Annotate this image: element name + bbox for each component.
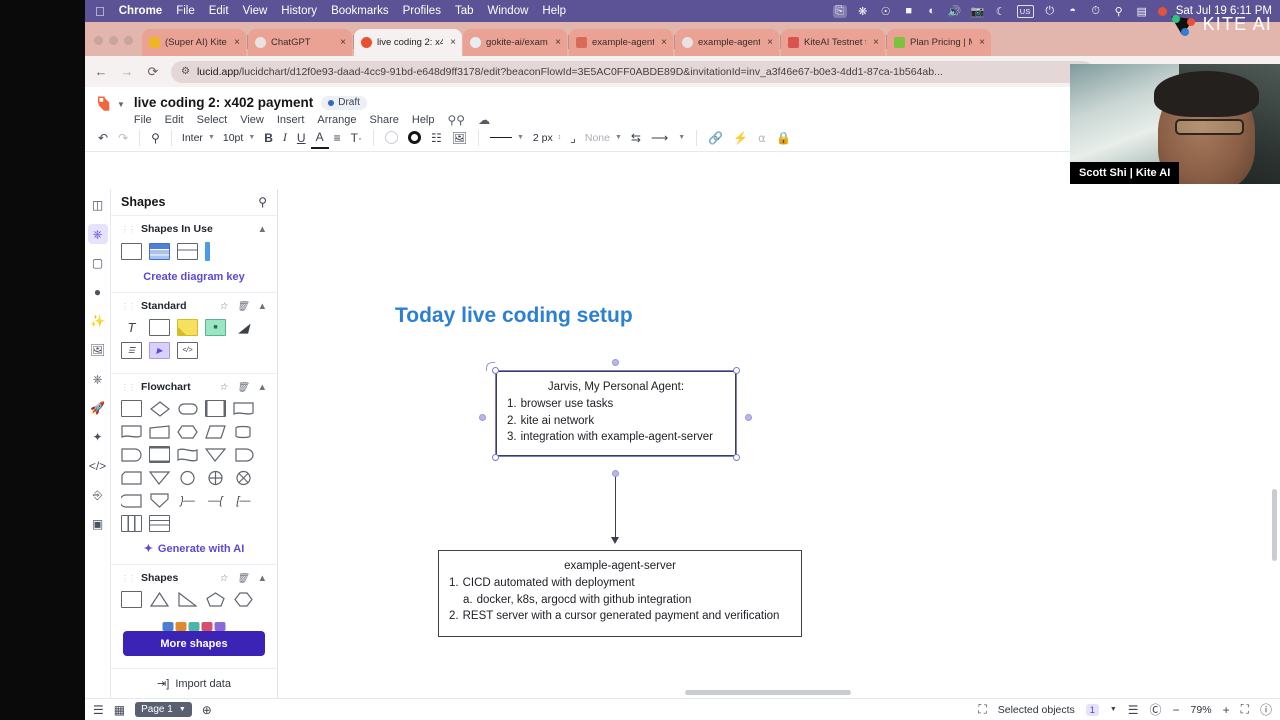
shape-decision[interactable]	[149, 400, 170, 417]
stepper-icon: ↕	[558, 134, 562, 141]
undo-icon[interactable]: ↶	[93, 127, 113, 149]
shape-grid	[121, 400, 267, 417]
page-selector[interactable]: Page 1 ▼	[135, 702, 192, 717]
menu-profiles[interactable]: Profiles	[403, 5, 441, 17]
shape-extract[interactable]	[205, 446, 226, 463]
magic-wand-icon[interactable]: ✨	[88, 311, 108, 331]
star-icon[interactable]: ☆	[219, 301, 228, 312]
section-actions: ☆ 🗑 ▲	[219, 573, 267, 584]
section-title: Flowchart	[141, 381, 191, 393]
draft-dot-icon	[328, 100, 334, 106]
shape-pen-icon[interactable]: ◢	[233, 319, 254, 336]
accessibility-icon[interactable]: Ⓒ	[1150, 701, 1162, 718]
ai-sparkle-icon[interactable]: ✦	[88, 427, 108, 447]
font-size-value: 10pt	[223, 132, 243, 144]
shape-options-icon[interactable]: ☷	[426, 127, 447, 149]
trash-icon[interactable]: 🗑	[237, 382, 249, 393]
lucid-menu-select[interactable]: Select	[197, 114, 228, 126]
tab-favicon	[470, 37, 481, 48]
tab-close-icon[interactable]: ×	[232, 38, 242, 48]
address-bar-url: lucid.app/lucidchart/d12f0e93-daad-4cc9-…	[197, 66, 943, 78]
list-item: 1.CICD automated with deployment	[449, 575, 791, 592]
shape-hexagon[interactable]	[233, 591, 254, 608]
speaker-name-label: Scott Shi | Kite AI	[1070, 162, 1179, 184]
shape-grid: }— —{ [—	[121, 492, 267, 509]
shape-table[interactable]	[177, 243, 198, 260]
shape-bracket[interactable]: [—	[233, 492, 254, 509]
webcam-overlay[interactable]: Scott Shi | Kite AI	[1070, 64, 1280, 184]
lucid-title-row: live coding 2: x402 payment Draft	[134, 95, 490, 110]
shape-parallelogram[interactable]	[205, 423, 226, 440]
lucid-title-block: live coding 2: x402 payment Draft File E…	[134, 95, 490, 127]
reload-button[interactable]: ⟳	[145, 64, 161, 80]
selection-icon[interactable]: ⛶	[978, 702, 986, 717]
comment-panel-icon[interactable]: ▣	[88, 514, 108, 534]
url-path: /lucidchart/d12f0e93-daad-4cc9-91bd-e648…	[239, 66, 943, 78]
more-shapes-preview	[163, 622, 226, 631]
import-data-row[interactable]: ⇥] Import data	[111, 668, 277, 690]
address-bar[interactable]: ⚙ lucid.app/lucidchart/d12f0e93-daad-4cc…	[171, 61, 1094, 83]
screen-root:  Chrome File Edit View History Bookmark…	[0, 0, 1280, 720]
drag-grip-icon: ⋮⋮	[121, 302, 135, 311]
tab-favicon	[255, 37, 266, 48]
list-text: CICD automated with deployment	[463, 575, 635, 592]
fill-none-icon[interactable]	[380, 127, 403, 149]
preview-shape	[215, 622, 226, 631]
list-item-sub: a.docker, k8s, argocd with github integr…	[449, 592, 791, 609]
search-icon[interactable]: ⚲	[258, 195, 267, 209]
volume-icon[interactable]: 🔊	[948, 5, 962, 18]
list-text: docker, k8s, argocd with github integrat…	[477, 592, 692, 609]
import-data-label: Import data	[175, 678, 231, 690]
format-painter-icon[interactable]: ⚲	[146, 127, 165, 149]
shape-right-triangle[interactable]	[177, 591, 198, 608]
section-header[interactable]: ⋮⋮ Standard ☆ 🗑 ▲	[121, 300, 267, 312]
tab-title: Plan Pricing | Modal	[910, 37, 972, 48]
tab-close-icon[interactable]: ×	[338, 38, 348, 48]
shape-predefined-process[interactable]	[205, 400, 226, 417]
shape-circle[interactable]	[177, 469, 198, 486]
lucid-menu-view[interactable]: View	[240, 114, 264, 126]
chevron-down-icon[interactable]: ▼	[1110, 706, 1117, 713]
document-title[interactable]: live coding 2: x402 payment	[134, 95, 313, 110]
preview-shape	[176, 622, 187, 631]
url-host: lucid.app	[197, 66, 239, 78]
tab-close-icon[interactable]: ×	[448, 38, 458, 48]
text-options-icon[interactable]: T·	[346, 127, 367, 149]
tab-title: live coding 2: x402 pa	[377, 37, 443, 48]
vertical-scrollbar[interactable]	[1272, 489, 1277, 561]
shape-card[interactable]	[121, 469, 142, 486]
raycast-icon[interactable]: ◐	[925, 5, 939, 18]
browser-tab-active[interactable]: live coding 2: x402 pa ×	[354, 29, 462, 56]
menu-view[interactable]: View	[243, 5, 268, 17]
shape-sticky-note[interactable]	[177, 319, 198, 336]
fit-screen-icon[interactable]: ⛶	[1241, 702, 1249, 717]
clock-icon[interactable]: ⏱	[1089, 5, 1103, 18]
lock-icon[interactable]: 🔒	[771, 127, 796, 149]
section-title: Shapes In Use	[141, 223, 213, 235]
toolbar-divider	[171, 130, 172, 146]
swap-endpoints-icon[interactable]: ⇆	[626, 127, 646, 149]
zoom-level[interactable]: 79%	[1191, 704, 1212, 716]
lucid-menu-edit[interactable]: Edit	[165, 114, 184, 126]
back-button[interactable]: ←	[93, 64, 109, 79]
shape-process[interactable]	[121, 400, 142, 417]
webcam-glasses	[1175, 119, 1244, 135]
section-actions: ▲	[258, 224, 267, 235]
browser-tab[interactable]: Plan Pricing | Modal ×	[887, 29, 991, 56]
browser-tab[interactable]: ChatGPT ×	[248, 29, 352, 56]
tab-title: example-agent-serve	[592, 37, 654, 48]
shape-triangle[interactable]	[149, 591, 170, 608]
shape-pentagon[interactable]	[205, 591, 226, 608]
status-bar: ☰ ▦ Page 1 ▼ ⊕ ⛶ Selected objects 1 ▼ ☰ …	[85, 698, 1280, 720]
kite-dot-green	[1172, 15, 1180, 23]
status-bar-right: ⛶ Selected objects 1 ▼ ☰ Ⓒ − 79% + ⛶ ⓘ	[978, 701, 1272, 718]
align-icon[interactable]: ≡	[329, 127, 346, 149]
shape-merge[interactable]	[149, 469, 170, 486]
trash-icon[interactable]: 🗑	[237, 301, 249, 312]
menu-file[interactable]: File	[176, 5, 195, 17]
line-weight-value: 2 px	[533, 132, 553, 144]
add-page-button[interactable]: ⊕	[202, 703, 212, 717]
shape-summing-junction[interactable]	[205, 469, 226, 486]
resize-handle-se[interactable]	[733, 454, 740, 461]
resize-handle-sw[interactable]	[492, 454, 499, 461]
kite-brand-text: KITE AI	[1203, 14, 1272, 35]
italic-button[interactable]: I	[278, 127, 292, 149]
grammarly-icon[interactable]: ☉	[879, 5, 893, 18]
shape-internal-storage[interactable]	[149, 446, 170, 463]
user-avatar[interactable]	[1158, 7, 1167, 16]
list-marker: 2.	[449, 608, 459, 625]
shape-display[interactable]	[233, 446, 254, 463]
lucid-menubar: File Edit Select View Insert Arrange Sha…	[134, 113, 490, 127]
shape-delay[interactable]	[121, 446, 142, 463]
shape-brace-right[interactable]: }—	[177, 492, 198, 509]
tab-favicon	[788, 37, 799, 48]
wifi-icon[interactable]: ◓	[1066, 5, 1080, 18]
minimize-window-button[interactable]	[109, 36, 118, 45]
integrations-icon[interactable]: 🚀	[88, 398, 108, 418]
templates-icon[interactable]: ▢	[88, 253, 108, 273]
kite-logo-icon	[1170, 12, 1196, 36]
shape-square[interactable]	[121, 591, 142, 608]
create-diagram-key-link[interactable]: Create diagram key	[121, 267, 267, 284]
lucid-menu-help[interactable]: Help	[412, 114, 435, 126]
chevron-down-icon: ▼	[615, 134, 622, 141]
link-icon[interactable]: 🔗	[703, 127, 728, 149]
connector-handle-w[interactable]	[479, 414, 486, 421]
shape-green-note[interactable]: ■	[205, 319, 226, 336]
lucid-menu-share[interactable]: Share	[370, 114, 399, 126]
bold-button[interactable]: B	[259, 127, 278, 149]
magnet-icon[interactable]: ⍺	[753, 127, 771, 149]
tab-close-icon[interactable]: ×	[871, 38, 881, 48]
section-title: Standard	[141, 300, 187, 312]
list-marker: a.	[463, 592, 473, 609]
shape-grid	[121, 423, 267, 440]
section-header[interactable]: ⋮⋮ Flowchart ☆ 🗑 ▲	[121, 381, 267, 393]
section-flowchart: ⋮⋮ Flowchart ☆ 🗑 ▲	[111, 373, 277, 564]
font-size-select[interactable]: 10pt▼	[219, 132, 259, 144]
tab-favicon	[682, 37, 693, 48]
lucid-menu-file[interactable]: File	[134, 114, 152, 126]
tab-close-icon[interactable]: ×	[659, 38, 669, 48]
shape-grid	[121, 515, 267, 532]
tab-title: example-agent-serve	[698, 37, 760, 48]
menu-chrome[interactable]: Chrome	[119, 5, 162, 17]
underline-button[interactable]: U	[292, 127, 311, 149]
shape-manual-operation[interactable]	[149, 492, 170, 509]
connector-handle-e[interactable]	[745, 414, 752, 421]
shape-stored-data[interactable]	[121, 492, 142, 509]
tab-title: (Super AI) Kite AI - Th	[165, 37, 227, 48]
help-icon[interactable]: ⓘ	[1260, 701, 1272, 718]
selected-objects-label: Selected objects	[998, 704, 1075, 716]
browser-tab[interactable]: example-agent-serve ×	[569, 29, 673, 56]
line-shape-icon[interactable]: ⌟	[565, 127, 581, 149]
panel-toggle-icon[interactable]: ◫	[88, 195, 108, 215]
tab-title: KiteAI Testnet transac	[804, 37, 866, 48]
section-shapes-in-use: ⋮⋮ Shapes In Use ▲ Create diagram key	[111, 215, 277, 292]
search-icon[interactable]: ⚲	[1112, 5, 1126, 18]
diagram-node-example-agent-server[interactable]: example-agent-server 1.CICD automated wi…	[438, 550, 802, 637]
node-title: example-agent-server	[449, 560, 791, 572]
toolbar-divider	[478, 130, 479, 146]
preview-shape	[202, 622, 213, 631]
selected-objects-count: 1	[1086, 704, 1099, 716]
site-settings-icon[interactable]: ⚙	[181, 66, 190, 77]
shape-rectangle[interactable]	[121, 243, 142, 260]
connector-handle-s[interactable]	[612, 470, 619, 477]
cloud-saved-icon[interactable]: ☁	[478, 113, 490, 127]
shape-columns[interactable]	[121, 515, 142, 532]
draft-status-badge[interactable]: Draft	[321, 96, 367, 110]
toolbar-divider	[373, 130, 374, 146]
zoom-out-button[interactable]: −	[1173, 703, 1180, 717]
chevron-up-icon[interactable]: ▲	[258, 382, 267, 393]
shape-document[interactable]	[233, 400, 254, 417]
tab-title: gokite-ai/example-ag	[486, 37, 548, 48]
connector-handle-n[interactable]	[612, 359, 619, 366]
input-source-us[interactable]: US	[1017, 5, 1034, 18]
shape-or-junction[interactable]	[233, 469, 254, 486]
fill-icon[interactable]: ●	[88, 282, 108, 302]
data-icon[interactable]: ⎈	[88, 369, 108, 389]
zoom-icon[interactable]: 📷	[971, 5, 985, 18]
tab-favicon	[894, 37, 905, 48]
font-family-select[interactable]: Inter▼	[178, 132, 219, 144]
shape-rectangle[interactable]	[149, 319, 170, 336]
menu-window[interactable]: Window	[488, 5, 529, 17]
section-shapes: ⋮⋮ Shapes ☆ 🗑 ▲	[111, 564, 277, 622]
drag-grip-icon: ⋮⋮	[121, 383, 135, 392]
webcam-hair	[1154, 71, 1259, 117]
shape-rows[interactable]	[149, 515, 170, 532]
shape-grid	[121, 242, 267, 261]
battery-icon[interactable]: ⏻	[1043, 5, 1057, 18]
lucid-menu-arrange[interactable]: Arrange	[317, 114, 356, 126]
action-icon[interactable]: ⚡	[728, 127, 753, 149]
kite-ai-branding: KITE AI	[1170, 12, 1272, 36]
chevron-down-icon[interactable]: ▼	[673, 127, 690, 149]
resize-handle-nw[interactable]	[492, 367, 499, 374]
list-text: REST server with a cursor generated paym…	[463, 608, 780, 625]
window-controls[interactable]	[85, 36, 142, 56]
chevron-down-icon: ▼	[179, 706, 186, 713]
shape-code[interactable]: </>	[177, 342, 198, 359]
connector-line[interactable]	[615, 477, 616, 539]
grid-icon[interactable]: ▦	[114, 703, 125, 717]
shape-grid	[121, 446, 267, 463]
layers-list-icon[interactable]: ☰	[93, 703, 104, 717]
draft-label: Draft	[338, 97, 360, 108]
stop-icon[interactable]: ■	[902, 5, 916, 18]
page-name: Page 1	[141, 704, 173, 715]
menu-history[interactable]: History	[281, 5, 317, 17]
shape-preparation[interactable]	[177, 423, 198, 440]
macos-menu-left:  Chrome File Edit View History Bookmark…	[85, 5, 566, 18]
ai-sparkle-icon: ✦	[144, 542, 153, 555]
zoom-in-button[interactable]: +	[1223, 703, 1230, 717]
generate-with-ai-label: Generate with AI	[158, 543, 244, 555]
moon-icon[interactable]: ☾	[994, 5, 1008, 18]
shape-grid: ☰ ▶ </>	[121, 342, 267, 359]
shapes-icon[interactable]: ⎈	[88, 224, 108, 244]
shape-database[interactable]	[233, 423, 254, 440]
section-header[interactable]: ⋮⋮ Shapes ☆ 🗑 ▲	[121, 572, 267, 584]
tab-close-icon[interactable]: ×	[977, 38, 987, 48]
endpoint-start-value: None	[585, 132, 610, 144]
browser-tab[interactable]: gokite-ai/example-ag ×	[463, 29, 567, 56]
shape-grid	[121, 591, 267, 608]
kite-dot-red	[1187, 18, 1195, 26]
shape-grid: T ■ ◢	[121, 319, 267, 336]
binoculars-icon[interactable]: ⚲⚲	[448, 113, 466, 127]
lucid-logo-icon[interactable]	[95, 95, 113, 113]
font-family-value: Inter	[182, 132, 203, 144]
theme-icon[interactable]: 🖼	[447, 127, 472, 149]
shapes-panel-title: Shapes	[121, 195, 165, 209]
line-weight-select[interactable]: 2 px↕	[529, 132, 565, 144]
chevron-down-icon: ▼	[208, 134, 215, 141]
shape-manual-input[interactable]	[149, 423, 170, 440]
canvas-heading-1[interactable]: Today live coding setup	[395, 304, 633, 328]
generate-with-ai-link[interactable]: ✦ Generate with AI	[121, 538, 267, 556]
endpoint-end-icon[interactable]: ⟶	[646, 127, 673, 149]
shape-terminator[interactable]	[177, 400, 198, 417]
maximize-window-button[interactable]	[124, 36, 133, 45]
resize-handle-ne[interactable]	[733, 367, 740, 374]
tab-strip: (Super AI) Kite AI - Th × ChatGPT × live…	[85, 22, 1280, 56]
shape-flag[interactable]	[177, 446, 198, 463]
browser-tab[interactable]: example-agent-serve ×	[675, 29, 779, 56]
forward-button[interactable]: →	[119, 64, 135, 79]
line-style-select[interactable]: ▼	[485, 127, 529, 149]
bluetooth-icon[interactable]: ❋	[856, 5, 870, 18]
shape-grid	[121, 469, 267, 486]
chevron-up-icon[interactable]: ▲	[258, 301, 267, 312]
kite-dot-blue	[1181, 28, 1189, 36]
tab-close-icon[interactable]: ×	[765, 38, 775, 48]
close-window-button[interactable]	[94, 36, 103, 45]
screen-share-icon[interactable]: ⎘	[833, 5, 847, 18]
left-icon-rail: ◫ ⎈ ▢ ● ✨ 🖼 ⎈ 🚀 ✦ </> ⎆ ▣	[85, 189, 111, 698]
menu-bookmarks[interactable]: Bookmarks	[331, 5, 389, 17]
more-shapes-wrap: More shapes	[111, 631, 277, 656]
import-icon: ⇥]	[157, 677, 169, 690]
shape-document-2[interactable]	[121, 423, 142, 440]
list-marker: 1.	[449, 575, 459, 592]
drag-grip-icon: ⋮⋮	[121, 574, 135, 583]
preview-shape	[163, 622, 174, 631]
control-center-icon[interactable]: ▤	[1135, 5, 1149, 18]
drag-grip-icon: ⋮⋮	[121, 225, 135, 234]
list-item: 2.REST server with a cursor generated pa…	[449, 608, 791, 625]
shapes-panel-header: Shapes ⚲	[111, 189, 277, 215]
chevron-up-icon[interactable]: ▲	[258, 224, 267, 235]
shape-media[interactable]: ▶	[149, 342, 170, 359]
section-actions: ☆ 🗑 ▲	[219, 301, 267, 312]
preview-shape	[189, 622, 200, 631]
line-color-icon[interactable]	[403, 127, 426, 149]
macos-menu-bar:  Chrome File Edit View History Bookmark…	[85, 0, 1280, 22]
shapes-panel: Shapes ⚲ ⋮⋮ Shapes In Use ▲ C	[111, 189, 278, 698]
shape-table-blue[interactable]	[149, 243, 170, 260]
font-color-button[interactable]: A	[311, 127, 329, 149]
shape-text[interactable]: T	[121, 319, 142, 336]
image-icon[interactable]: 🖼	[88, 340, 108, 360]
connector-arrowhead	[611, 537, 619, 544]
section-header[interactable]: ⋮⋮ Shapes In Use ▲	[121, 223, 267, 235]
menu-help[interactable]: Help	[542, 5, 566, 17]
browser-tab[interactable]: KiteAI Testnet transac ×	[781, 29, 885, 56]
logo-chevron-down-icon[interactable]: ▼	[117, 100, 125, 109]
diagram-canvas[interactable]: Today live coding setup Jarvis, My Perso…	[278, 189, 1280, 698]
horizontal-scrollbar[interactable]	[685, 690, 851, 695]
section-standard: ⋮⋮ Standard ☆ 🗑 ▲ T ■ ◢	[111, 292, 277, 373]
shape-bar[interactable]	[205, 242, 210, 261]
section-title: Shapes	[141, 572, 178, 584]
extension-icon[interactable]: ⎆	[88, 485, 108, 505]
toolbar-divider	[696, 130, 697, 146]
shape-list[interactable]: ☰	[121, 342, 142, 359]
endpoint-start-select[interactable]: None▼	[581, 132, 626, 144]
trash-icon[interactable]: 🗑	[237, 573, 249, 584]
tab-favicon	[576, 37, 587, 48]
lucid-menu-insert[interactable]: Insert	[277, 114, 305, 126]
chevron-down-icon: ▼	[248, 134, 255, 141]
code-icon[interactable]: </>	[88, 456, 108, 476]
section-actions: ☆ 🗑 ▲	[219, 382, 267, 393]
menu-edit[interactable]: Edit	[209, 5, 229, 17]
toolbar-divider	[139, 130, 140, 146]
star-icon[interactable]: ☆	[219, 382, 228, 393]
chevron-up-icon[interactable]: ▲	[258, 573, 267, 584]
browser-tab[interactable]: (Super AI) Kite AI - Th ×	[142, 29, 246, 56]
tab-favicon	[361, 37, 372, 48]
more-shapes-button[interactable]: More shapes	[123, 631, 265, 656]
star-icon[interactable]: ☆	[219, 573, 228, 584]
tab-close-icon[interactable]: ×	[553, 38, 563, 48]
layer-stack-icon[interactable]: ☰	[1128, 703, 1139, 717]
menu-tab[interactable]: Tab	[455, 5, 474, 17]
redo-icon[interactable]: ↷	[113, 127, 133, 149]
apple-logo-icon[interactable]: 	[95, 5, 105, 18]
shape-brace-left[interactable]: —{	[205, 492, 226, 509]
